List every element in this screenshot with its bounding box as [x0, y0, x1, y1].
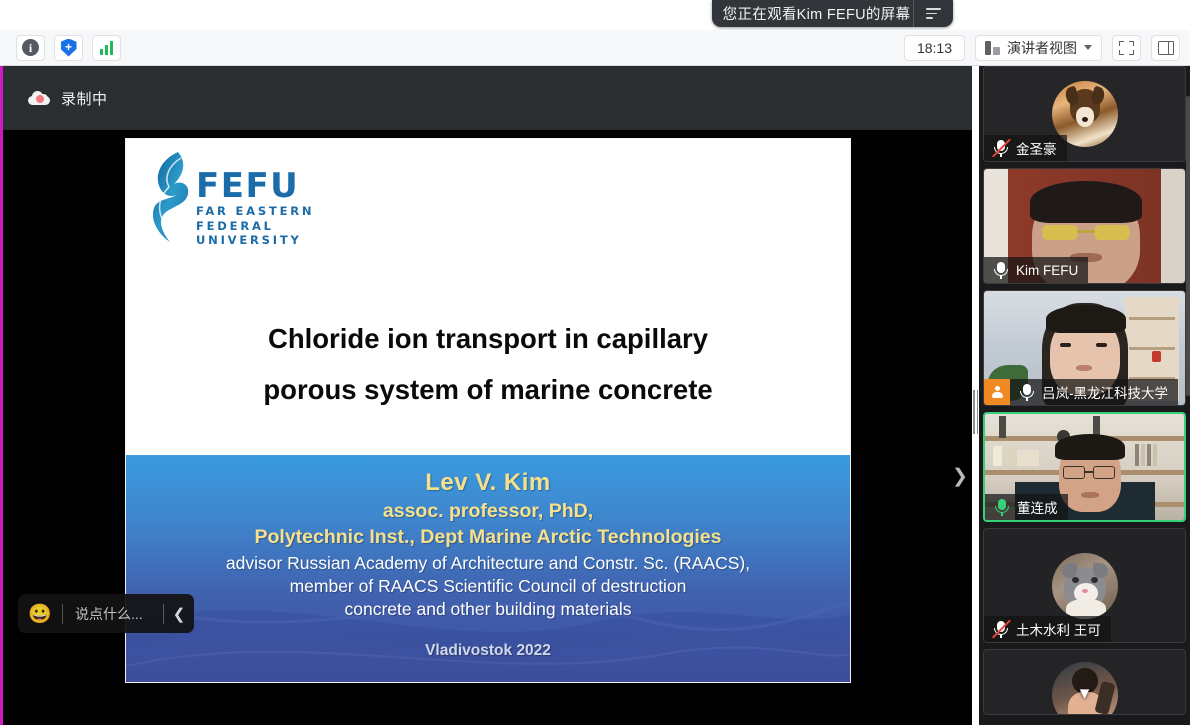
cloud-recording-icon	[28, 91, 50, 105]
fefu-logo-line1: FAR EASTERN	[196, 206, 314, 218]
person-icon	[991, 386, 1004, 399]
host-badge	[984, 379, 1010, 405]
participant-video: ▾	[984, 650, 1185, 714]
toolbar-right-group: 18:13 演讲者视图	[904, 35, 1190, 61]
zoom-meeting-window: 您正在观看Kim FEFU的屏幕 i + 18:13	[0, 0, 1190, 725]
side-panel-icon	[1158, 41, 1174, 55]
participant-name: 董连成	[1017, 497, 1058, 517]
mic-muted-icon	[990, 137, 1012, 159]
meeting-timer: 18:13	[904, 35, 965, 61]
meeting-time-text: 18:13	[917, 40, 952, 56]
participant-rail-scrollbar[interactable]	[1186, 66, 1190, 725]
fefu-logo: FEFU FAR EASTERN FEDERAL UNIVERSITY	[148, 149, 314, 247]
participant-tile[interactable]: 吕岚-黑龙江科技大学	[983, 290, 1186, 406]
mic-muted-icon	[990, 618, 1012, 640]
slide-location-year: Vladivostok 2022	[126, 642, 850, 660]
signal-bars-icon	[100, 41, 113, 55]
smiley-icon[interactable]: 😀	[18, 602, 62, 626]
left-accent-strip	[0, 66, 3, 725]
author-affiliation-1: advisor Russian Academy of Architecture …	[126, 553, 850, 574]
author-block: Lev V. Kim assoc. professor, PhD, Polyte…	[126, 455, 850, 660]
participant-name: 吕岚-黑龙江科技大学	[1042, 382, 1168, 402]
layout-icon	[985, 41, 1000, 55]
participant-name-plate: Kim FEFU	[984, 257, 1088, 283]
info-icon: i	[22, 39, 39, 56]
mic-icon	[990, 259, 1012, 281]
author-role: assoc. professor, PhD,	[126, 500, 850, 523]
recording-bar: 录制中	[0, 66, 972, 130]
fefu-logo-text: FEFU FAR EASTERN FEDERAL UNIVERSITY	[196, 149, 314, 247]
author-affiliation-3: concrete and other building materials	[126, 599, 850, 620]
hamburger-glyph	[926, 5, 941, 22]
screen-share-banner[interactable]: 您正在观看Kim FEFU的屏幕	[712, 0, 953, 27]
participant-tile-partial[interactable]: ▾	[983, 649, 1186, 715]
meeting-toolbar: i + 18:13 演讲者视图	[0, 30, 1190, 66]
chevron-left-icon[interactable]: ❮	[164, 605, 194, 623]
view-mode-dropdown[interactable]: 演讲者视图	[975, 35, 1102, 61]
fullscreen-icon	[1119, 41, 1134, 55]
participant-tile[interactable]: 土木水利 王可	[983, 528, 1186, 643]
participant-name-plate: 董连成	[985, 494, 1068, 520]
participant-tile[interactable]: 金圣豪	[983, 66, 1186, 162]
hamburger-menu-icon[interactable]	[913, 0, 953, 27]
slide-title-line-2: porous system of marine concrete	[126, 365, 850, 416]
chevron-right-icon[interactable]: ❯	[952, 461, 968, 491]
author-name: Lev V. Kim	[126, 469, 850, 497]
share-banner-text: 您正在观看Kim FEFU的屏幕	[712, 3, 913, 24]
slide-author-band: Lev V. Kim assoc. professor, PhD, Polyte…	[126, 455, 850, 682]
security-button[interactable]: +	[54, 35, 83, 61]
shared-screen-stage: 录制中	[0, 66, 972, 725]
fullscreen-button[interactable]	[1112, 35, 1141, 61]
participant-rail: 金圣豪 Kim FEFU	[979, 66, 1190, 725]
participant-name-plate: 土木水利 王可	[984, 616, 1111, 642]
participant-name: 金圣豪	[1016, 138, 1057, 158]
shield-plus-icon: +	[61, 39, 77, 57]
network-status-button[interactable]	[92, 35, 121, 61]
chevron-down-icon[interactable]: ▾	[984, 682, 1185, 705]
participant-name: Kim FEFU	[1016, 263, 1078, 278]
participant-name: 土木水利 王可	[1016, 619, 1101, 639]
participant-tile[interactable]: Kim FEFU	[983, 168, 1186, 284]
author-department: Polytechnic Inst., Dept Marine Arctic Te…	[126, 526, 850, 549]
side-panel-button[interactable]	[1151, 35, 1180, 61]
view-mode-label: 演讲者视图	[1007, 38, 1077, 58]
toolbar-left-group: i +	[0, 35, 121, 61]
presentation-slide: FEFU FAR EASTERN FEDERAL UNIVERSITY Chlo…	[125, 138, 851, 683]
fefu-wave-mark-icon	[148, 150, 192, 245]
chevron-down-icon	[1084, 45, 1092, 50]
recording-label: 录制中	[61, 88, 108, 109]
fefu-logo-line2: FEDERAL	[196, 221, 314, 233]
chat-input-bar[interactable]: 😀 说点什么... ❮	[18, 594, 194, 633]
avatar	[1052, 553, 1118, 619]
slide-title-line-1: Chloride ion transport in capillary	[126, 314, 850, 365]
participant-name-plate: 金圣豪	[984, 135, 1067, 161]
participant-tile-active-speaker[interactable]: 董连成	[983, 412, 1186, 522]
slide-title: Chloride ion transport in capillary poro…	[126, 314, 850, 416]
author-affiliation-2: member of RAACS Scientific Council of de…	[126, 576, 850, 597]
fefu-logo-name: FEFU	[196, 166, 299, 206]
mic-icon	[1016, 381, 1038, 403]
panel-drag-handle[interactable]	[972, 382, 979, 442]
mic-active-icon	[991, 496, 1013, 518]
fefu-logo-line3: UNIVERSITY	[196, 235, 314, 247]
participant-name-plate: 吕岚-黑龙江科技大学	[984, 379, 1178, 405]
chat-placeholder[interactable]: 说点什么...	[63, 604, 163, 624]
meeting-info-button[interactable]: i	[16, 35, 45, 61]
